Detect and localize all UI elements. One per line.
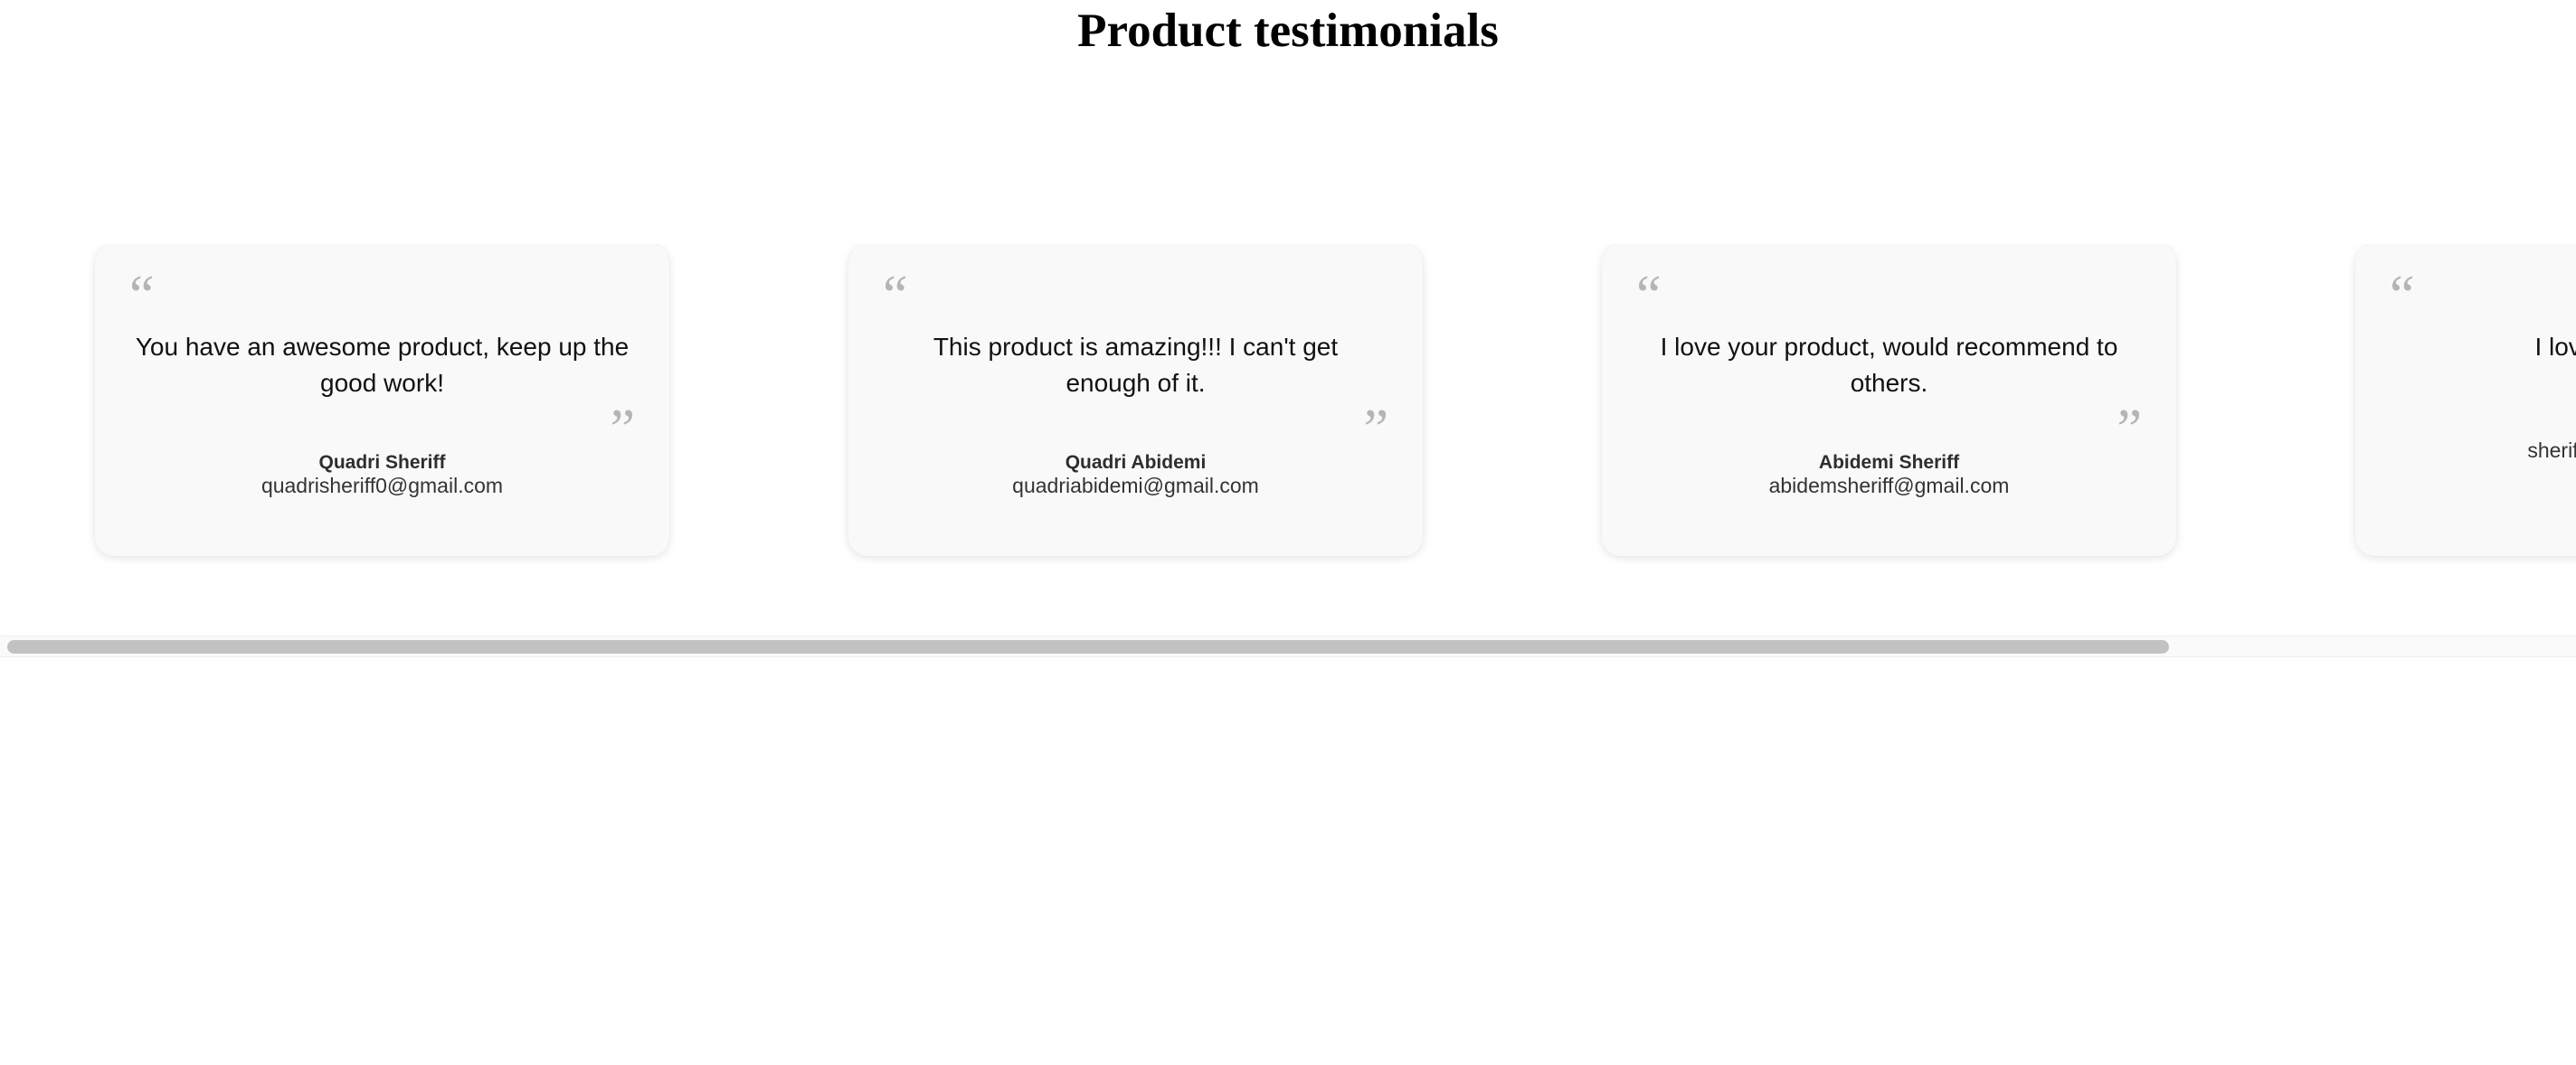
- testimonial-card[interactable]: “ I love your product! ” Sheriff Quadri …: [2355, 244, 2576, 556]
- testimonial-author: Sheriff Quadri sheriffquadri@gmail.com: [2390, 416, 2576, 463]
- quote-close-icon: ”: [2390, 378, 2576, 410]
- author-email: sheriffquadri@gmail.com: [2390, 438, 2576, 463]
- quote-close-icon: ”: [1636, 414, 2142, 447]
- author-name: Quadri Abidemi: [883, 452, 1388, 475]
- testimonial-card[interactable]: “ You have an awesome product, keep up t…: [95, 244, 669, 556]
- author-email: quadrisheriff0@gmail.com: [129, 474, 635, 498]
- testimonial-carousel[interactable]: “ You have an awesome product, keep up t…: [0, 244, 2576, 635]
- testimonial-quote: You have an awesome product, keep up the…: [129, 329, 635, 401]
- author-name: Abidemi Sheriff: [1636, 452, 2142, 475]
- testimonial-list: “ You have an awesome product, keep up t…: [0, 244, 2576, 588]
- quote-close-icon: ”: [883, 414, 1388, 447]
- testimonial-quote: I love your product!: [2390, 329, 2576, 365]
- author-email: quadriabidemi@gmail.com: [883, 474, 1388, 498]
- quote-open-icon: “: [1636, 280, 2142, 311]
- author-name: Sheriff Quadri: [2390, 416, 2576, 438]
- quote-open-icon: “: [129, 280, 635, 311]
- author-email: abidemsheriff@gmail.com: [1636, 474, 2142, 498]
- testimonial-card[interactable]: “ This product is amazing!!! I can't get…: [848, 244, 1423, 556]
- author-name: Quadri Sheriff: [129, 452, 635, 475]
- testimonial-author: Quadri Abidemi quadriabidemi@gmail.com: [883, 452, 1388, 499]
- quote-open-icon: “: [883, 280, 1388, 311]
- horizontal-scrollbar-thumb[interactable]: [7, 640, 2169, 654]
- page-title: Product testimonials: [0, 7, 2576, 55]
- quote-close-icon: ”: [129, 414, 635, 447]
- testimonial-author: Abidemi Sheriff abidemsheriff@gmail.com: [1636, 452, 2142, 499]
- testimonials-page: Product testimonials “ You have an aweso…: [0, 0, 2576, 1065]
- testimonial-card[interactable]: “ I love your product, would recommend t…: [1602, 244, 2176, 556]
- quote-open-icon: “: [2390, 280, 2576, 311]
- testimonial-quote: I love your product, would recommend to …: [1636, 329, 2142, 401]
- horizontal-scrollbar-track[interactable]: [0, 636, 2576, 657]
- testimonial-quote: This product is amazing!!! I can't get e…: [883, 329, 1388, 401]
- testimonial-author: Quadri Sheriff quadrisheriff0@gmail.com: [129, 452, 635, 499]
